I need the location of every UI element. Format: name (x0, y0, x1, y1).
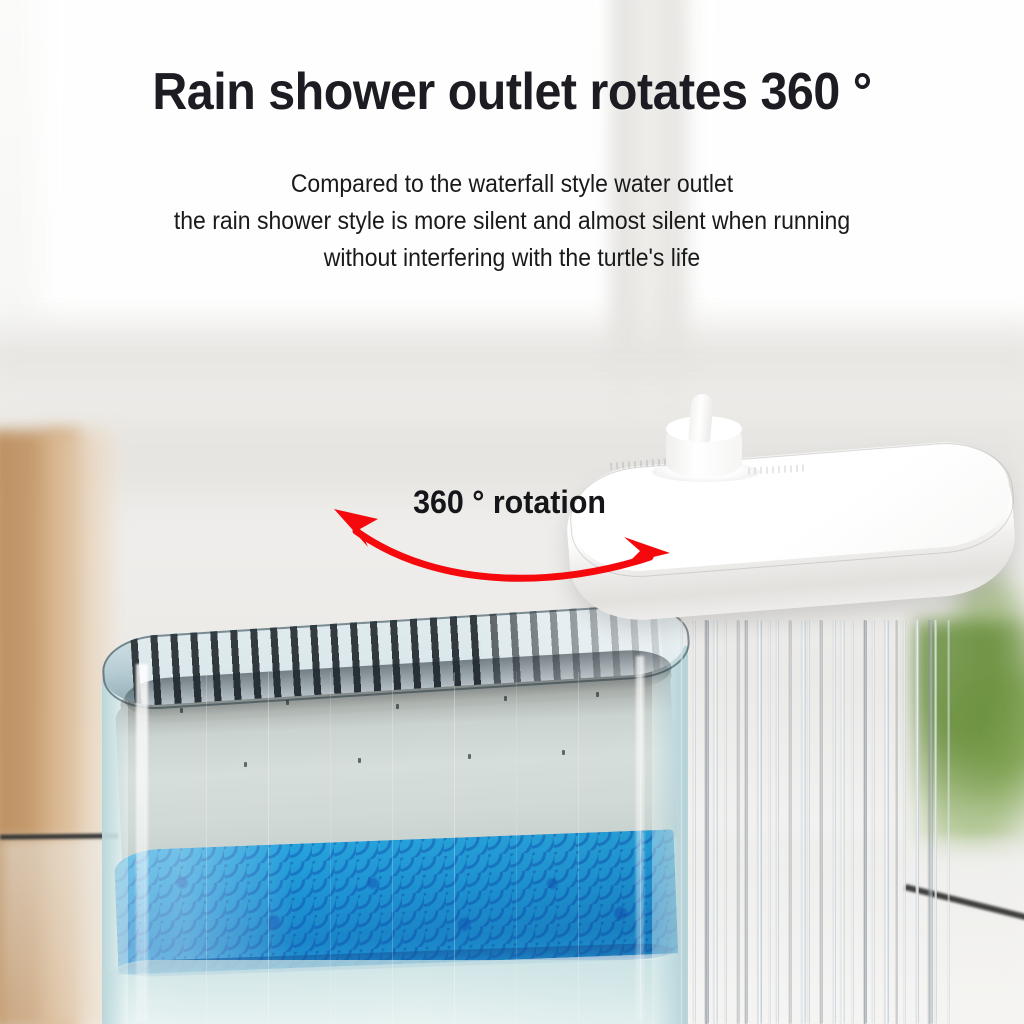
water-stream (927, 620, 933, 1024)
water-stream (851, 620, 854, 1024)
tank-speck (358, 758, 361, 763)
water-stream (883, 620, 889, 1024)
tank-speck (244, 762, 247, 767)
tank-highlight-line (268, 672, 269, 1022)
tank-speck (396, 704, 399, 709)
water-stream (775, 620, 779, 1024)
tank-highlight-line (454, 672, 455, 1022)
water-stream (832, 620, 837, 1024)
tank-gloss-left (136, 664, 148, 1022)
subtitle-line-3: without interfering with the turtle's li… (41, 244, 983, 273)
spout-fin (688, 393, 714, 443)
tank-highlight-line (516, 672, 517, 1022)
water-stream (895, 620, 898, 1024)
tank-highlight-line (578, 672, 579, 1022)
tank-speck (286, 700, 289, 705)
water-stream (800, 620, 806, 1024)
water-stream (871, 620, 876, 1024)
tank-speck (596, 692, 599, 697)
tank-speck (504, 696, 507, 701)
water-stream (819, 620, 823, 1024)
tank-lower-water (106, 960, 684, 1024)
subtitle-line-1: Compared to the waterfall style water ou… (41, 170, 983, 199)
water-stream (947, 620, 951, 1024)
water-stream (915, 620, 920, 1024)
water-stream (788, 620, 793, 1024)
tank-speck (562, 750, 565, 755)
water-stream (744, 620, 749, 1024)
water-stream (680, 620, 683, 1024)
filter-tank (96, 612, 692, 1024)
tank-highlight-line (392, 672, 393, 1022)
water-stream (863, 620, 867, 1024)
water-stream (807, 620, 810, 1024)
tank-highlight-line (640, 672, 641, 1022)
tank-highlight-line (144, 672, 145, 1022)
water-stream (839, 620, 845, 1024)
tank-speck (468, 754, 471, 759)
water-stream (724, 620, 727, 1024)
tank-left-wall (102, 658, 128, 1024)
water-stream (704, 620, 709, 1024)
water-stream (692, 620, 696, 1024)
product-feature-image: Rain shower outlet rotates 360 ° Compare… (0, 0, 1024, 1024)
tank-highlight-line (330, 672, 331, 1022)
tank-highlight-line (206, 672, 207, 1022)
tank-speck (180, 708, 183, 713)
water-stream (934, 620, 937, 1024)
water-stream (736, 620, 740, 1024)
rain-shower-water-streams (676, 620, 976, 1024)
rotation-label: 360 ° rotation (413, 484, 606, 521)
headline: Rain shower outlet rotates 360 ° (36, 62, 988, 122)
water-stream (712, 620, 718, 1024)
water-stream (756, 620, 762, 1024)
water-stream (903, 620, 907, 1024)
water-stream (768, 620, 771, 1024)
subtitle-line-2: the rain shower style is more silent and… (41, 207, 983, 236)
